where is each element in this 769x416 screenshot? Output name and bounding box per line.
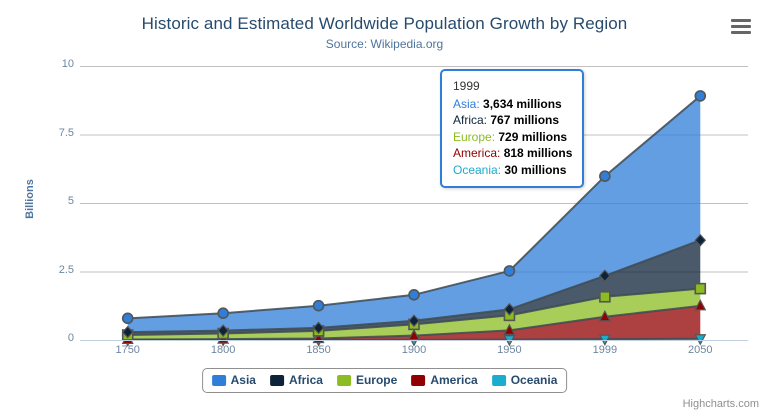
y-axis-ticks: 02.557.510	[0, 0, 74, 416]
tooltip-rows: Asia: 3,634 millionsAfrica: 767 millions…	[453, 96, 572, 179]
tooltip-row: Europe: 729 millions	[453, 129, 572, 146]
tooltip-row: Asia: 3,634 millions	[453, 96, 572, 113]
x-tick-label: 1900	[384, 344, 444, 356]
tooltip-row: Africa: 767 millions	[453, 112, 572, 129]
tooltip-series-value: 818 millions	[504, 146, 573, 160]
legend-item-africa[interactable]: Africa	[270, 373, 323, 387]
legend-item-label: America	[430, 373, 477, 387]
x-tick-label: 1950	[479, 344, 539, 356]
legend-item-label: Oceania	[511, 373, 558, 387]
credits-link[interactable]: Highcharts.com	[683, 398, 759, 410]
tooltip: 1999 Asia: 3,634 millionsAfrica: 767 mil…	[440, 69, 584, 188]
tooltip-series-value: 30 millions	[504, 163, 566, 177]
legend-swatch-icon	[270, 375, 284, 386]
legend-swatch-icon	[337, 375, 351, 386]
tooltip-series-name: Europe:	[453, 130, 498, 144]
tooltip-series-name: Africa:	[453, 113, 490, 127]
tooltip-series-name: Asia:	[453, 97, 483, 111]
y-tick-label: 10	[30, 58, 74, 70]
tooltip-series-name: Oceania:	[453, 163, 504, 177]
tooltip-series-value: 3,634 millions	[483, 97, 562, 111]
legend-item-label: Africa	[289, 373, 323, 387]
y-tick-label: 7.5	[30, 127, 74, 139]
highcharts-container: Historic and Estimated Worldwide Populat…	[0, 0, 769, 416]
tooltip-series-value: 729 millions	[498, 130, 567, 144]
legend-item-america[interactable]: America	[411, 373, 477, 387]
legend-item-asia[interactable]: Asia	[212, 373, 256, 387]
y-tick-label: 5	[30, 195, 74, 207]
tooltip-row: Oceania: 30 millions	[453, 162, 572, 179]
tooltip-header: 1999	[453, 78, 572, 96]
tooltip-row: America: 818 millions	[453, 145, 572, 162]
tooltip-series-name: America:	[453, 146, 504, 160]
x-tick-label: 1800	[193, 344, 253, 356]
legend-swatch-icon	[212, 375, 226, 386]
x-tick-label: 1999	[575, 344, 635, 356]
x-tick-label: 1850	[289, 344, 349, 356]
legend-swatch-icon	[411, 375, 425, 386]
chart-legend: AsiaAfricaEuropeAmericaOceania	[202, 368, 568, 393]
y-axis-title: Billions	[24, 164, 36, 234]
x-tick-label: 1750	[98, 344, 158, 356]
y-tick-label: 2.5	[30, 264, 74, 276]
legend-item-oceania[interactable]: Oceania	[492, 373, 558, 387]
x-tick-label: 2050	[670, 344, 730, 356]
tooltip-series-value: 767 millions	[490, 113, 559, 127]
legend-swatch-icon	[492, 375, 506, 386]
series-areas	[128, 96, 701, 340]
legend-item-europe[interactable]: Europe	[337, 373, 397, 387]
legend-item-label: Asia	[231, 373, 256, 387]
y-tick-label: 0	[30, 332, 74, 344]
legend-item-label: Europe	[356, 373, 397, 387]
